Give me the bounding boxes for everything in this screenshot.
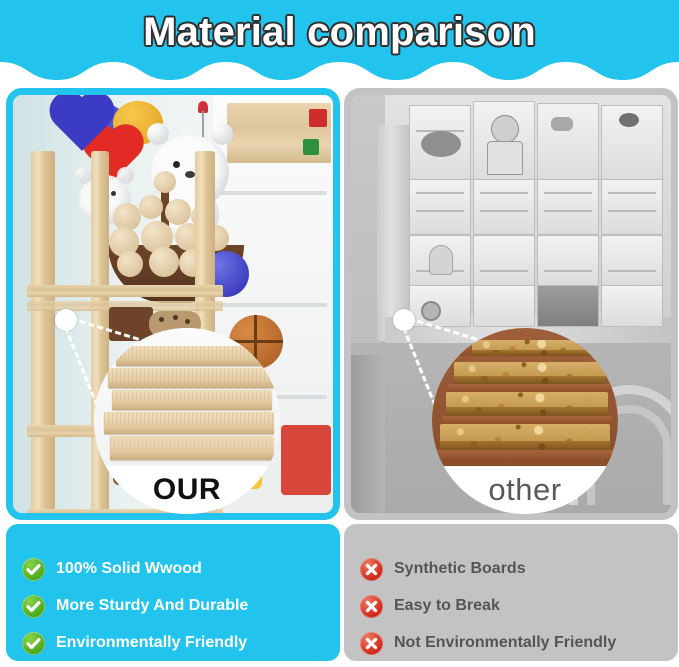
panel-our: OUR <box>6 88 340 528</box>
other-label: other <box>432 466 618 514</box>
other-detail-image <box>432 328 618 466</box>
list-item: 100% Solid Wwood <box>22 552 340 586</box>
material-comparison-infographic: Material comparison <box>0 0 679 667</box>
check-circle-icon <box>22 558 45 581</box>
our-detail-marker-dot <box>55 309 77 331</box>
feature-label: 100% Solid Wwood <box>56 560 202 578</box>
other-magnifier: other <box>432 328 618 514</box>
our-label: OUR <box>94 466 280 514</box>
page-title: Material comparison <box>0 6 679 58</box>
list-item: Not Environmentally Friendly <box>360 626 678 660</box>
our-feature-list: 100% Solid Wwood More Sturdy And Durable… <box>6 524 340 661</box>
comparison-panels: OUR <box>0 88 679 528</box>
panel-other: other <box>344 88 678 528</box>
feature-label: More Sturdy And Durable <box>56 597 248 615</box>
list-item: Easy to Break <box>360 589 678 623</box>
x-circle-icon <box>360 558 383 581</box>
feature-label: Easy to Break <box>394 597 500 615</box>
our-detail-image <box>94 328 280 466</box>
our-magnifier: OUR <box>94 328 280 514</box>
x-circle-icon <box>360 632 383 655</box>
x-circle-icon <box>360 595 383 618</box>
header-banner: Material comparison <box>0 0 679 92</box>
feature-bars: 100% Solid Wwood More Sturdy And Durable… <box>0 524 679 667</box>
list-item: More Sturdy And Durable <box>22 589 340 623</box>
check-circle-icon <box>22 595 45 618</box>
other-detail-marker-dot <box>393 309 415 331</box>
feature-label: Synthetic Boards <box>394 560 526 578</box>
check-circle-icon <box>22 632 45 655</box>
list-item: Environmentally Friendly <box>22 626 340 660</box>
list-item: Synthetic Boards <box>360 552 678 586</box>
feature-label: Environmentally Friendly <box>56 634 247 652</box>
other-feature-list: Synthetic Boards Easy to Break Not Envir… <box>344 524 678 661</box>
feature-label: Not Environmentally Friendly <box>394 634 616 652</box>
